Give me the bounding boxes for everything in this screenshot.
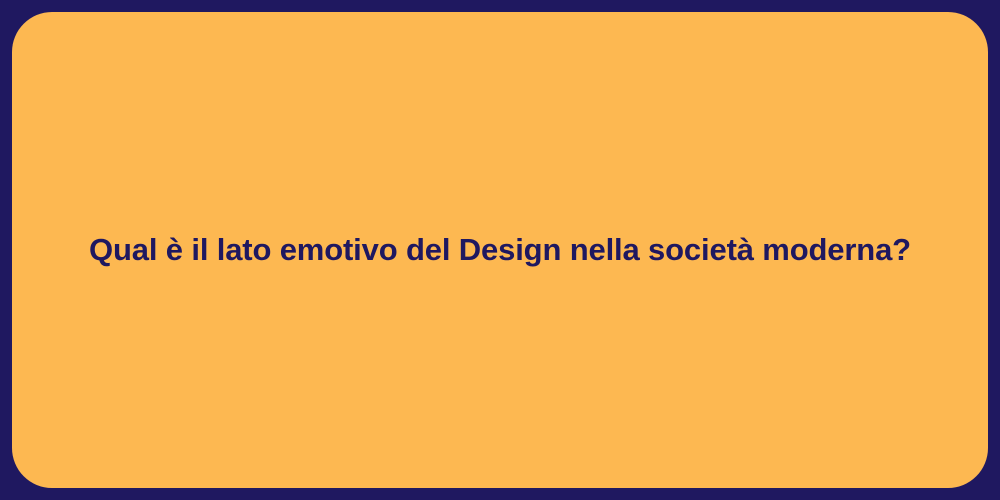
page-frame: Qual è il lato emotivo del Design nella … bbox=[0, 0, 1000, 500]
question-card: Qual è il lato emotivo del Design nella … bbox=[12, 12, 988, 488]
question-headline: Qual è il lato emotivo del Design nella … bbox=[49, 231, 951, 270]
